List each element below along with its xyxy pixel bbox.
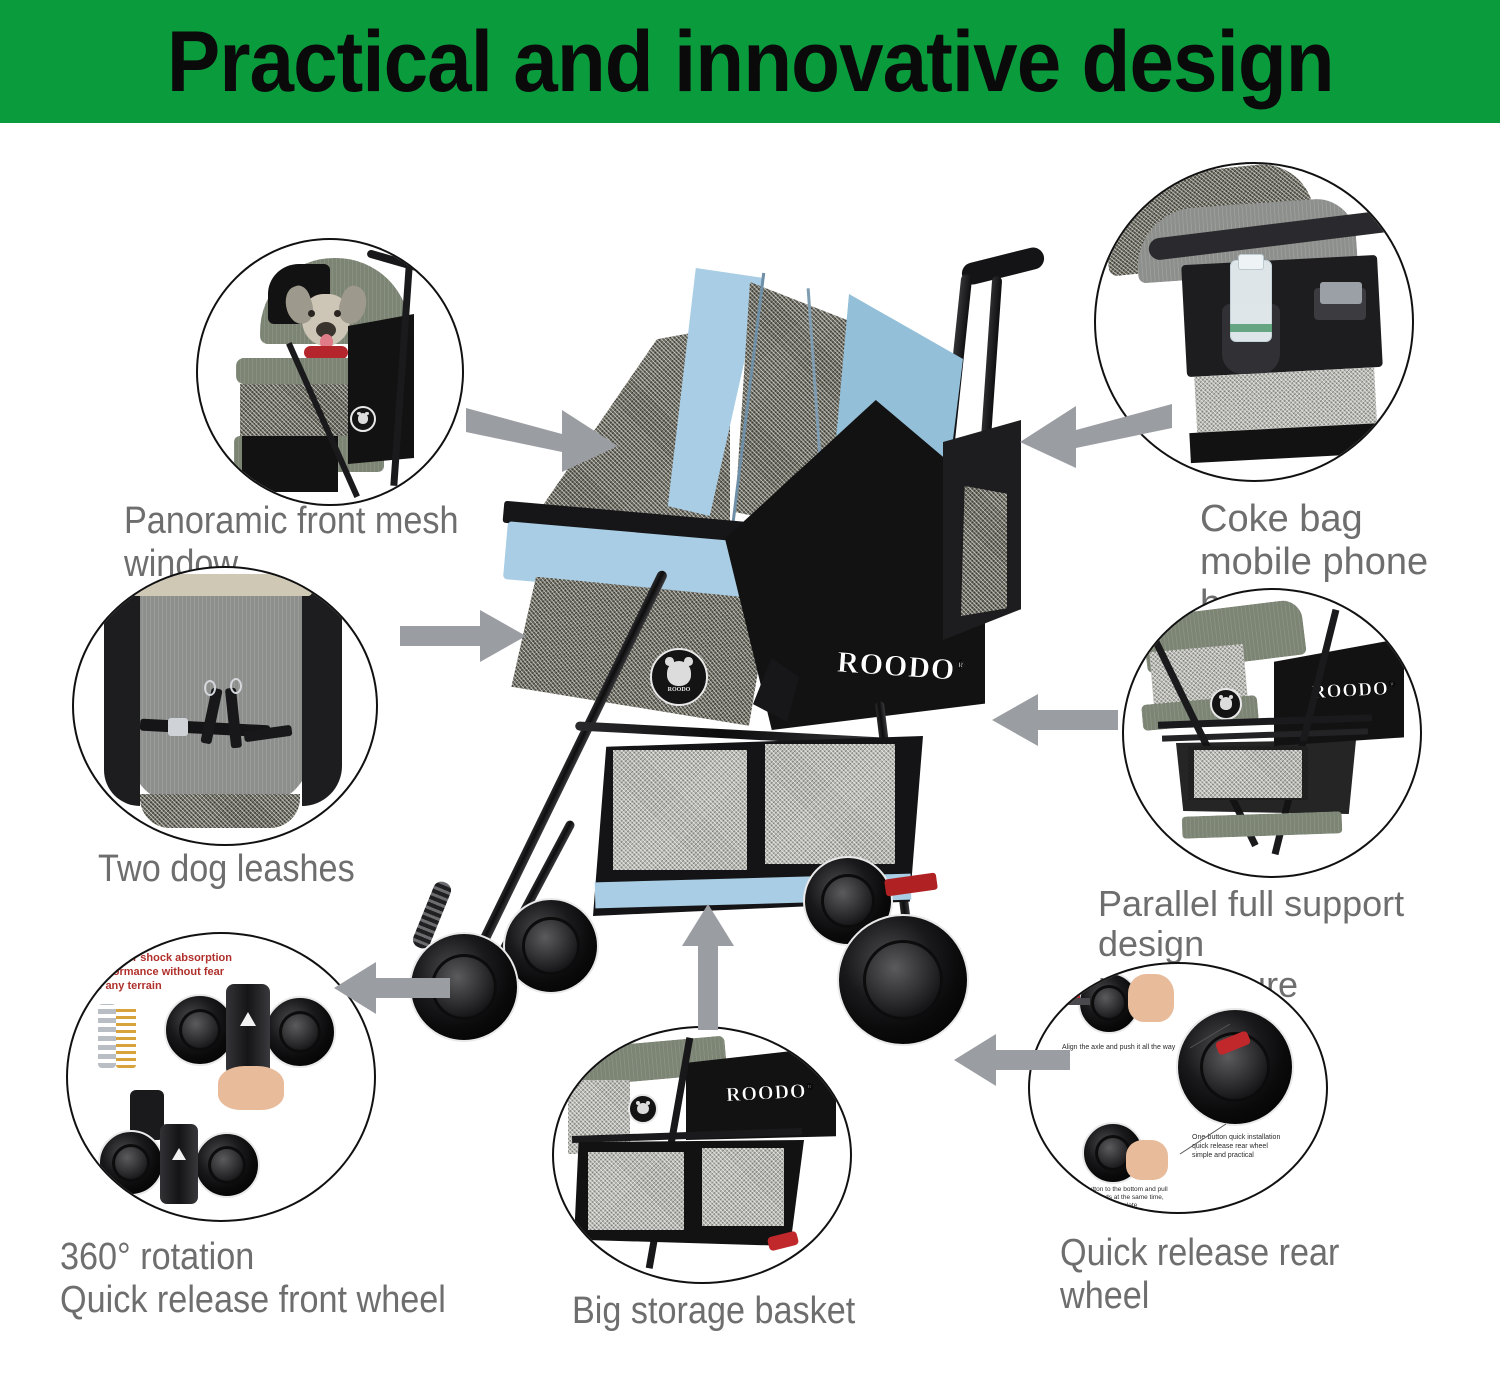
rear-wheel-far-spokes bbox=[824, 877, 872, 925]
detached-up-arrow-icon bbox=[172, 1148, 186, 1160]
support-bear-logo-icon bbox=[1210, 688, 1242, 720]
arrow-from-coke-bag bbox=[1012, 388, 1172, 472]
arrow-to-leashes bbox=[400, 608, 530, 664]
support-brand-name: ROODO bbox=[1311, 678, 1389, 703]
cabin-front-mesh bbox=[140, 794, 300, 828]
arrow-to-front-wheel bbox=[330, 960, 450, 1016]
basket-mesh-left bbox=[613, 750, 747, 870]
callout-big-storage-basket: ROODO® bbox=[552, 1026, 852, 1284]
infographic-page: Practical and innovative design bbox=[0, 0, 1500, 1395]
support-bear-glyph bbox=[1220, 697, 1233, 710]
callout-quick-release-rear-wheel: Align the axle and push it all the way O… bbox=[1028, 962, 1328, 1214]
support-basket-bottom bbox=[1182, 811, 1343, 839]
axle-up-arrow-icon bbox=[240, 1012, 256, 1026]
quick-release-lever-rear bbox=[884, 872, 938, 896]
rear-callout-leader-lines bbox=[1030, 964, 1326, 1212]
header-banner: Practical and innovative design bbox=[0, 0, 1500, 123]
cabin-wall-right bbox=[302, 586, 342, 806]
rear-wheel-near bbox=[837, 914, 969, 1046]
callout-two-dog-leashes bbox=[72, 566, 378, 846]
rear-wheel-near-spokes bbox=[867, 944, 939, 1016]
detached-wheel-right bbox=[194, 1132, 260, 1198]
push-handle bbox=[960, 245, 1047, 287]
hand-holding-wheel bbox=[218, 1066, 284, 1110]
olive-bear-glyph bbox=[358, 413, 368, 423]
brand-name: ROODO bbox=[836, 646, 956, 687]
basket-brand-mark: ® bbox=[806, 1081, 814, 1091]
label-quick-release-front-wheel: 360° rotation Quick release front wheel bbox=[60, 1236, 474, 1321]
basket-brand-wordmark: ROODO® bbox=[725, 1080, 814, 1108]
storage-basket-mesh-front bbox=[588, 1152, 684, 1230]
arrow-to-mesh-window bbox=[466, 392, 626, 476]
leash-buckle bbox=[168, 718, 188, 736]
bottle-cap bbox=[1238, 254, 1264, 270]
bear-logo-icon: ROODO bbox=[650, 648, 708, 706]
label-two-dog-leashes: Two dog leashes bbox=[98, 848, 395, 891]
leash-clip-2 bbox=[230, 678, 242, 694]
page-title: Practical and innovative design bbox=[167, 19, 1334, 105]
spine-icon bbox=[98, 1004, 116, 1068]
badge-label: ROODO bbox=[668, 687, 691, 693]
arrow-from-parallel-support bbox=[988, 692, 1118, 748]
detached-hub bbox=[160, 1124, 198, 1204]
basket-bear-logo-icon bbox=[628, 1094, 658, 1124]
storage-basket-mesh-side bbox=[702, 1148, 784, 1226]
olive-bear-logo-icon bbox=[350, 406, 376, 432]
label-quick-release-rear-wheel: Quick release rear wheel bbox=[1060, 1232, 1420, 1317]
basket-mesh-right bbox=[765, 744, 895, 864]
bear-glyph bbox=[667, 661, 692, 686]
front-mesh-window bbox=[510, 575, 770, 726]
mobile-phone bbox=[1320, 282, 1362, 304]
basket-brand-name: ROODO bbox=[725, 1080, 807, 1106]
support-brand-mark: ® bbox=[1388, 678, 1396, 688]
shock-spring-icon bbox=[116, 1006, 136, 1068]
callout-panoramic-front-mesh-window bbox=[196, 238, 464, 506]
support-basket-mesh-inner bbox=[1194, 750, 1302, 798]
side-mesh-window bbox=[961, 486, 1007, 616]
wheel-axle-hub bbox=[226, 984, 270, 1076]
callout-parallel-full-support-design: ROODO® bbox=[1122, 588, 1422, 878]
brand-registered-mark: ® bbox=[955, 657, 967, 673]
arrow-to-storage-basket bbox=[680, 900, 736, 1030]
support-brand-wordmark: ROODO® bbox=[1311, 678, 1397, 704]
olive-basket bbox=[242, 436, 338, 492]
arrow-from-rear-wheel bbox=[950, 1032, 1070, 1088]
olive-front-mesh bbox=[240, 384, 360, 442]
detached-wheel-left bbox=[98, 1130, 164, 1196]
cabin-wall-left bbox=[104, 586, 140, 806]
front-wheel-demo-right bbox=[264, 996, 336, 1068]
leash-clip-1 bbox=[204, 680, 216, 696]
basket-bear-glyph bbox=[637, 1103, 649, 1115]
front-wheel-rear-spokes bbox=[525, 920, 577, 972]
bottle-green-band bbox=[1230, 324, 1272, 332]
cabin-top-trim bbox=[132, 574, 312, 596]
label-big-storage-basket: Big storage basket bbox=[572, 1290, 878, 1333]
